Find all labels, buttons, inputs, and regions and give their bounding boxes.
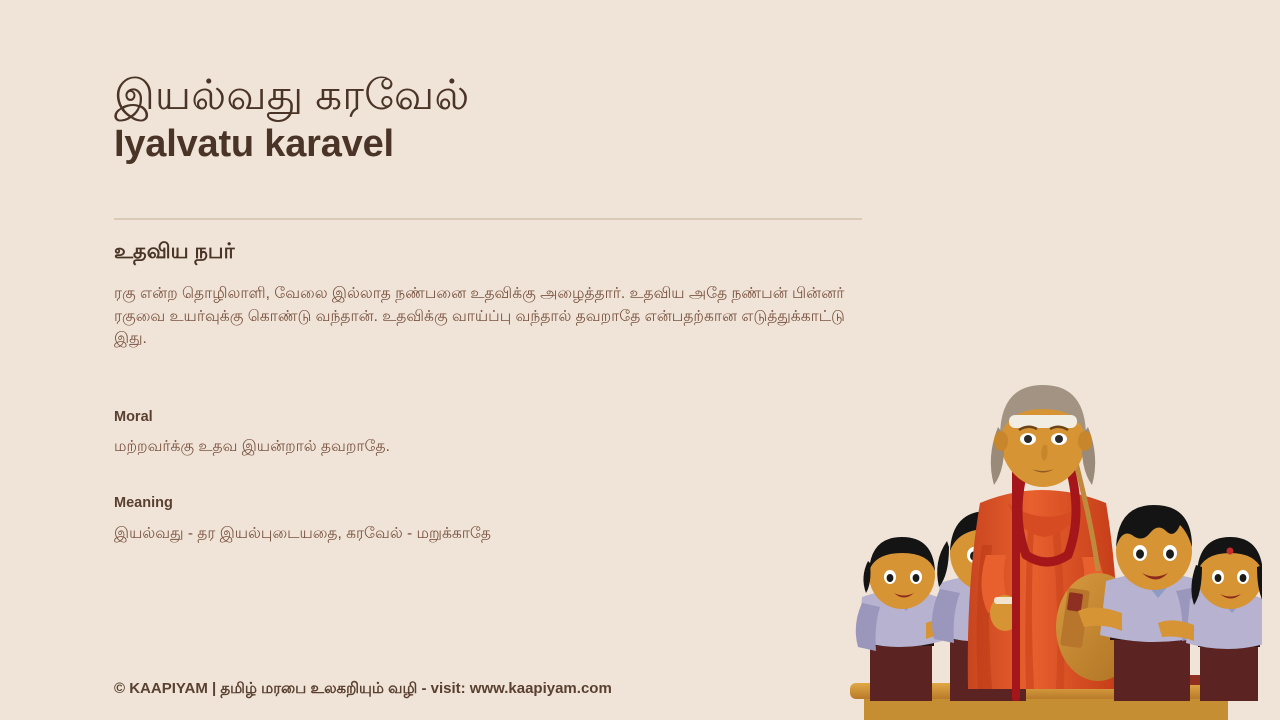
moral-text: மற்றவர்க்கு உதவ இயன்றால் தவறாதே. <box>114 436 390 458</box>
footer-credit: © KAAPIYAM | தமிழ் மரபை உலகறியும் வழி - … <box>114 678 612 699</box>
page-title-transliteration: Iyalvatu karavel <box>114 122 874 168</box>
header-block: இயல்வது கரவேல் Iyalvatu karavel <box>114 70 874 167</box>
meaning-label: Meaning <box>114 494 173 513</box>
story-body: ரகு என்ற தொழிலாளி, வேலை இல்லாத நண்பனை உத… <box>114 283 856 351</box>
header-divider <box>114 218 862 220</box>
meaning-text: இயல்வது - தர இயல்புடையதை, கரவேல் - மறுக்… <box>114 523 491 545</box>
page-title-tamil: இயல்வது கரவேல் <box>114 70 874 120</box>
elder-with-children-illustration <box>822 375 1262 720</box>
moral-label: Moral <box>114 408 153 427</box>
story-heading: உதவிய நபர் <box>114 238 235 265</box>
poster-canvas: இயல்வது கரவேல் Iyalvatu karavel உதவிய நப… <box>0 0 1280 720</box>
